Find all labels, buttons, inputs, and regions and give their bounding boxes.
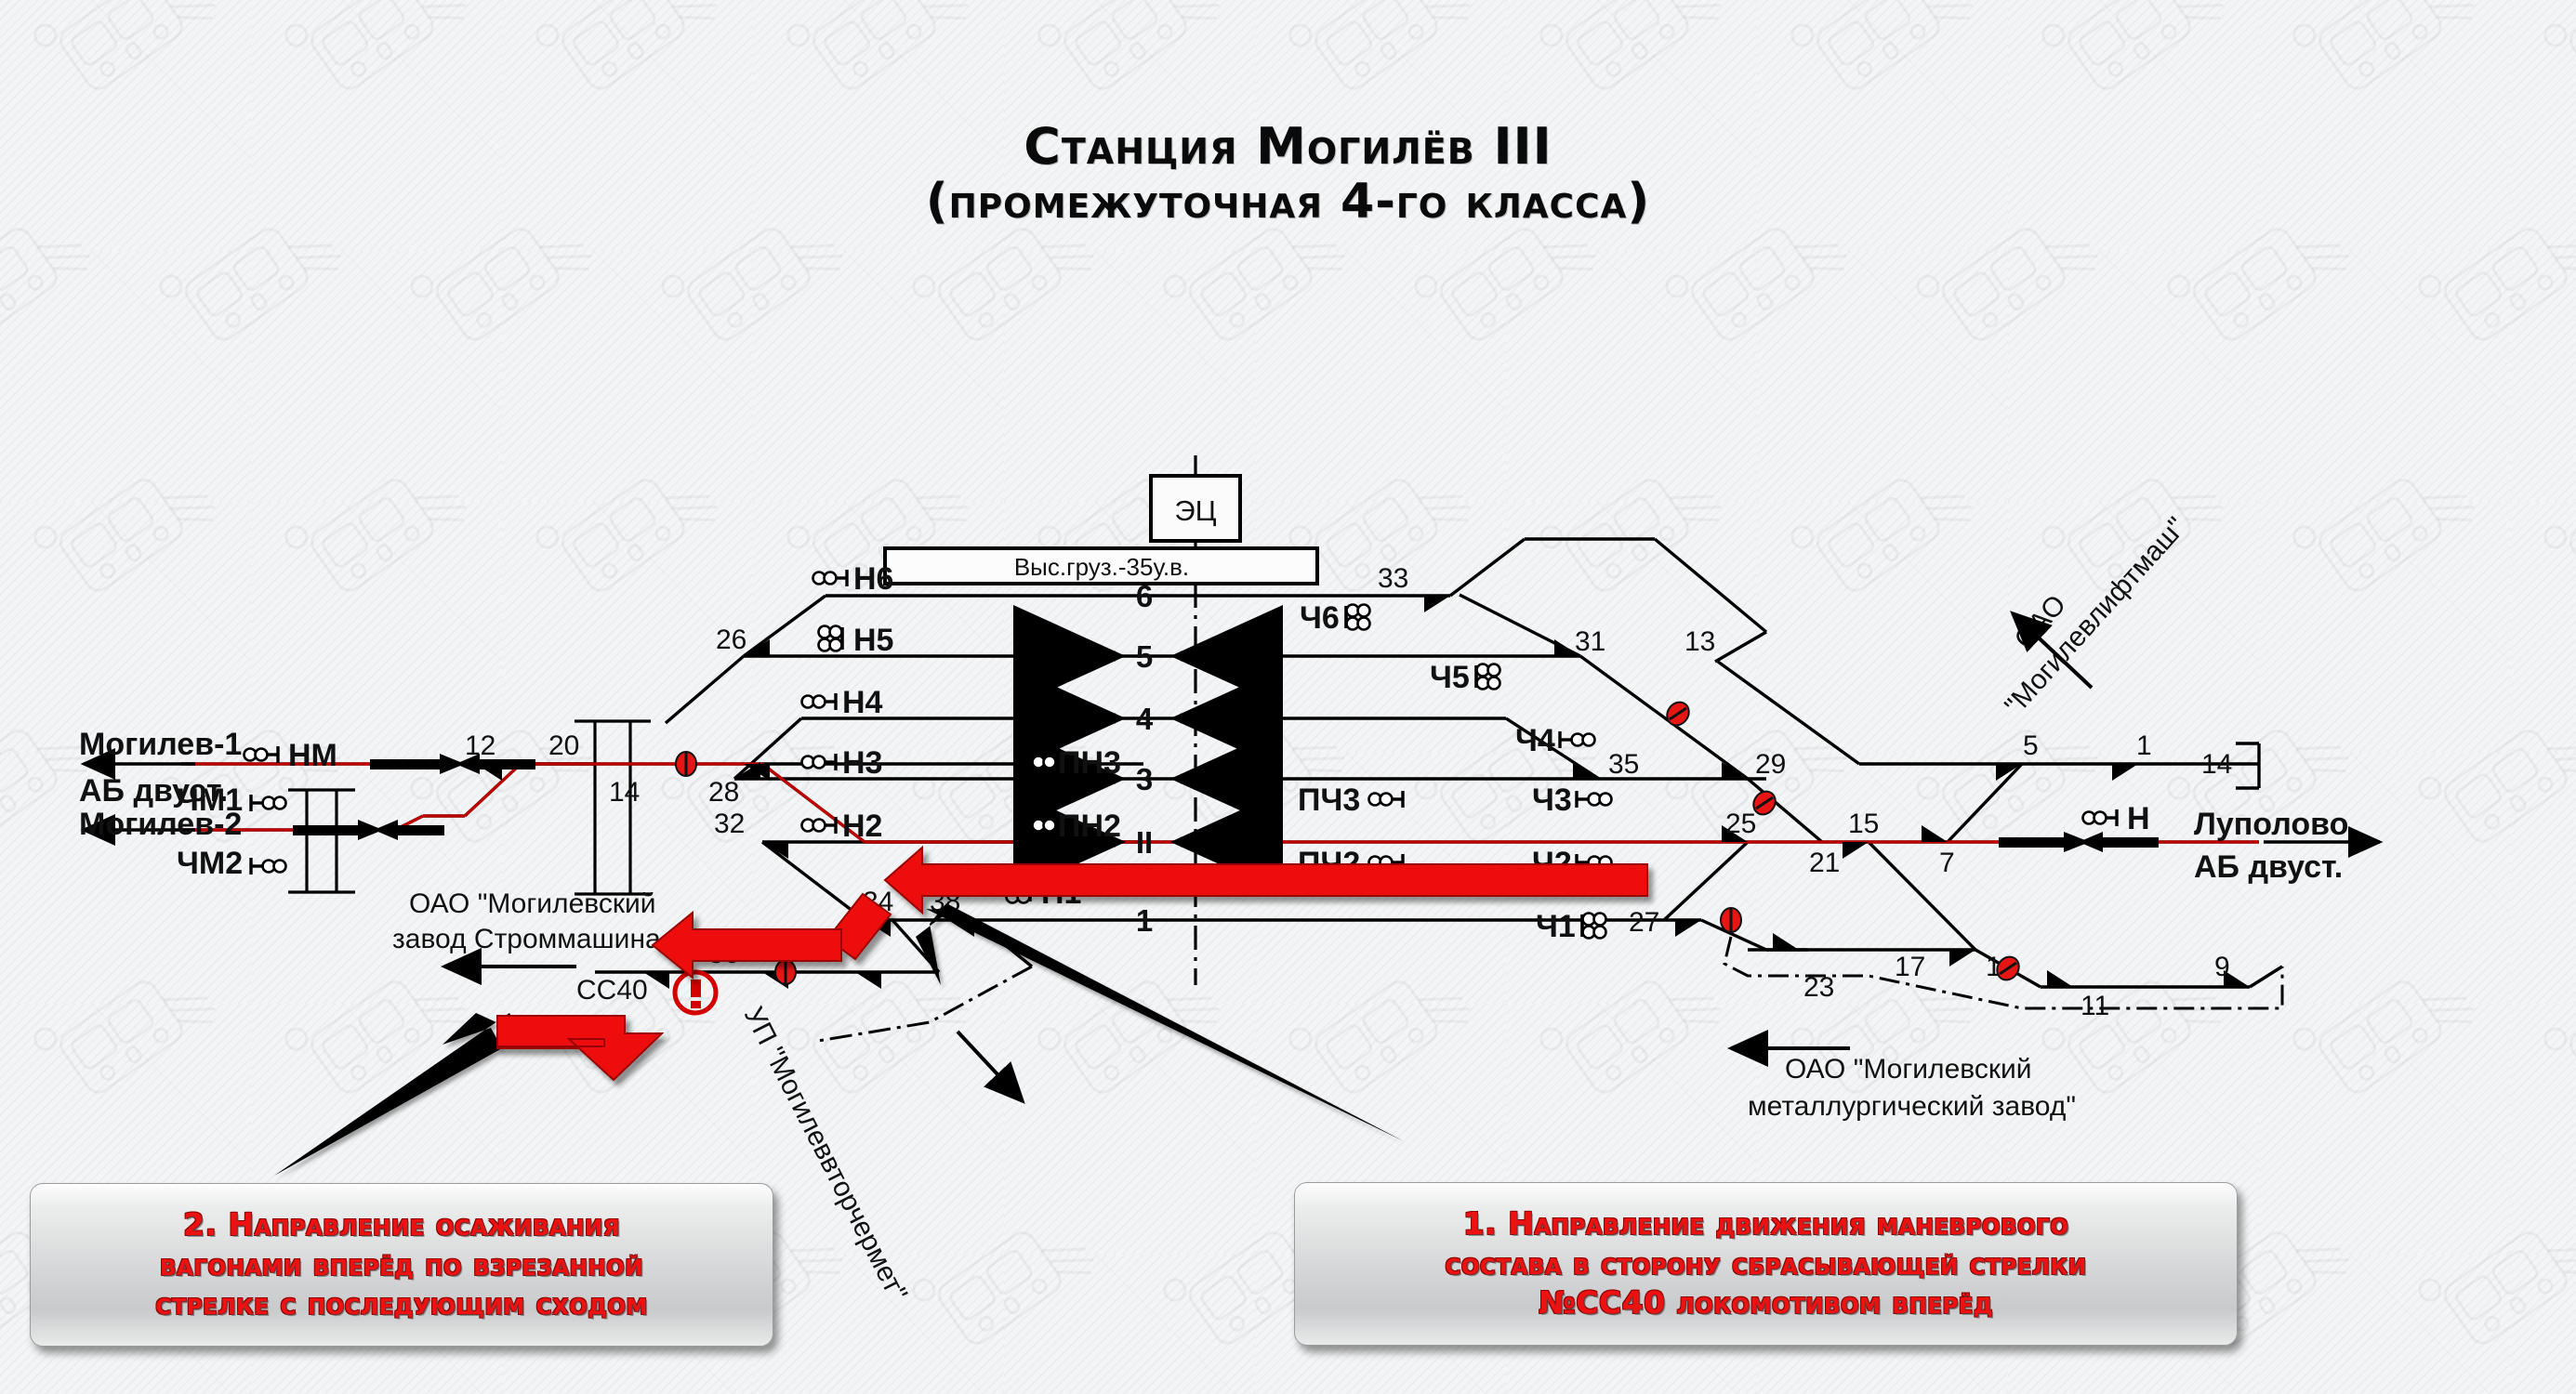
track-number-4: 4 bbox=[1136, 702, 1154, 736]
signal-icon-n4 bbox=[802, 693, 837, 710]
signal-label-chm2: ЧМ2 bbox=[177, 846, 243, 881]
signal-icon-pch3 bbox=[1369, 791, 1404, 808]
switch-number-25: 25 bbox=[1725, 809, 1756, 839]
signal-icon-chm2 bbox=[251, 858, 286, 875]
switch-number-15: 15 bbox=[1848, 809, 1879, 839]
loading-platform-label: Выс.груз.-35у.в. bbox=[1014, 553, 1189, 581]
switch-number-12: 12 bbox=[465, 730, 495, 761]
signal-label-n2: Н2 bbox=[842, 809, 882, 844]
signal-label-ch1: Ч1 bbox=[1536, 909, 1576, 944]
signal-icon-n3 bbox=[802, 754, 837, 770]
signal-icon-n6 bbox=[813, 570, 848, 586]
callout-1-line-3: №СС40 локомотивом вперёд bbox=[1539, 1283, 1993, 1323]
signal-icon-n5 bbox=[819, 626, 843, 651]
direction-labels: Могилев-1 АБ двуст. Могилев-2 Луполово А… bbox=[79, 727, 2348, 885]
signal-label-n3: Н3 bbox=[842, 745, 882, 781]
direction-label-mogilev2: Могилев-2 bbox=[79, 807, 242, 842]
callout-2-pointer bbox=[274, 1013, 521, 1176]
callout-2-line-1: 2. Направление осаживания bbox=[183, 1205, 620, 1245]
switch-number-17: 17 bbox=[1895, 952, 1925, 982]
switch-number-5: 5 bbox=[2023, 730, 2039, 761]
ladder-26-to-6 bbox=[744, 596, 826, 656]
red-arrow-36-line bbox=[653, 913, 841, 978]
switch-number-33: 33 bbox=[1378, 563, 1408, 594]
ec-box-label: ЭЦ bbox=[1174, 494, 1216, 527]
ladder-32 bbox=[762, 842, 865, 920]
signal-label-n5: Н5 bbox=[853, 623, 893, 658]
loading-platform-box: Выс.груз.-35у.в. bbox=[885, 548, 1317, 584]
direction-sub-ab-right: АБ двуст. bbox=[2194, 849, 2343, 885]
industry-metallurgical-line1: ОАО "Могилевский bbox=[1785, 1054, 2032, 1085]
siding-vtorchermet bbox=[818, 967, 1032, 1041]
switch-number-23: 23 bbox=[1803, 972, 1834, 1003]
signal-label-ch5: Ч5 bbox=[1430, 660, 1470, 695]
derailer-marker-27 bbox=[1721, 908, 1741, 932]
switch-number-27: 27 bbox=[1629, 907, 1659, 938]
switch-number-26: 26 bbox=[716, 625, 746, 655]
direction-sub-ab1: АБ двуст. bbox=[79, 773, 228, 809]
ec-box: ЭЦ bbox=[1151, 476, 1240, 541]
switch-number-1: 1 bbox=[2136, 730, 2152, 761]
switch-number-29: 29 bbox=[1755, 749, 1786, 780]
switch-number-20: 20 bbox=[548, 730, 579, 761]
switch-number-21: 21 bbox=[1809, 848, 1840, 878]
callout-box-1[interactable]: 1. Направление движения маневрового сост… bbox=[1294, 1182, 2238, 1346]
track-number-1: 1 bbox=[1136, 903, 1153, 938]
callout-1-line-2: состава в сторону сбрасывающей стрелки bbox=[1446, 1244, 2087, 1284]
switch-number-14: 14 bbox=[609, 777, 640, 808]
signal-label-n-right: Н bbox=[2127, 801, 2150, 836]
callout-2-line-2: вагонами вперёд по взрезанной bbox=[160, 1245, 643, 1285]
signal-label-pch3: ПЧ3 bbox=[1298, 782, 1360, 818]
signal-icon-nm bbox=[244, 746, 279, 763]
signal-label-nm: НМ bbox=[288, 738, 337, 773]
red-route-arrows bbox=[497, 848, 1647, 1080]
switch-number-9: 9 bbox=[2214, 952, 2230, 982]
derailer-ss40-label: СС40 bbox=[576, 975, 648, 1006]
signal-label-pn2: ПН2 bbox=[1058, 809, 1121, 844]
direction-label-mogilev1: Могилев-1 bbox=[79, 727, 242, 762]
signal-label-ch3: Ч3 bbox=[1532, 782, 1572, 818]
derailer-marker-28 bbox=[676, 752, 696, 776]
derailer-marker-13 bbox=[1663, 698, 1694, 730]
switch-number-14-right: 14 bbox=[2201, 749, 2232, 780]
industry-strommashina-line2: завод Строммашина bbox=[392, 924, 661, 954]
derailer-marker-36 bbox=[775, 960, 796, 984]
track-lines bbox=[181, 596, 1143, 972]
callout-1-pointer bbox=[916, 903, 1404, 1141]
switch-number-35: 35 bbox=[1608, 749, 1639, 780]
track-number-II: II bbox=[1136, 825, 1153, 860]
callout-2-line-3: стрелке с последующим сходом bbox=[155, 1284, 648, 1324]
switch-number-11: 11 bbox=[2081, 991, 2109, 1021]
direction-label-lupolovo: Луполово bbox=[2194, 807, 2348, 842]
switch-number-13-upper: 13 bbox=[1684, 626, 1715, 657]
signal-icon-n-right bbox=[2083, 809, 2118, 826]
signal-group-entry: Н6 Н5 Н4 Н3 Н2 Н1 bbox=[802, 561, 1082, 911]
industry-metallurgical-line2: металлургический завод" bbox=[1748, 1091, 2076, 1122]
signal-icon-ch4 bbox=[1560, 731, 1595, 748]
industry-strommashina-line1: ОАО "Могилевский bbox=[409, 888, 656, 919]
signal-icon-ch6 bbox=[1346, 605, 1370, 630]
signal-icon-ch1 bbox=[1582, 914, 1606, 939]
signal-group-right: Н bbox=[2083, 801, 2150, 836]
callout-1-line-1: 1. Направление движения маневрового bbox=[1463, 1204, 2069, 1244]
callout-box-2[interactable]: 2. Направление осаживания вагонами вперё… bbox=[30, 1183, 773, 1347]
signal-label-pn3: ПН3 bbox=[1058, 745, 1121, 781]
signal-icon-pn2 bbox=[1021, 817, 1056, 834]
signal-icon-ch5 bbox=[1476, 664, 1500, 690]
signal-icon-chm1 bbox=[251, 795, 286, 811]
signal-icon-ch3 bbox=[1577, 791, 1612, 808]
switch-number-32: 32 bbox=[714, 809, 745, 839]
station-scheme-page: Станция Могилёв III (промежуточная 4-го … bbox=[0, 0, 2576, 1394]
switch-number-31: 31 bbox=[1575, 626, 1605, 657]
signal-icon-pn3 bbox=[1021, 754, 1056, 770]
signal-icon-n2 bbox=[802, 817, 837, 834]
signal-label-n4: Н4 bbox=[842, 685, 883, 720]
switch-number-7: 7 bbox=[1939, 848, 1955, 878]
signal-group-pn: ПН3 ПН2 bbox=[1021, 745, 1121, 844]
signal-label-ch6: Ч6 bbox=[1300, 600, 1340, 636]
signal-label-ch4: Ч4 bbox=[1515, 723, 1555, 758]
track-number-6: 6 bbox=[1136, 579, 1153, 613]
signal-label-n6: Н6 bbox=[853, 561, 893, 597]
track-number-5: 5 bbox=[1136, 639, 1153, 674]
track-number-3: 3 bbox=[1136, 762, 1153, 796]
derailer-ss40 bbox=[675, 972, 716, 1013]
switch-number-28: 28 bbox=[708, 777, 739, 808]
